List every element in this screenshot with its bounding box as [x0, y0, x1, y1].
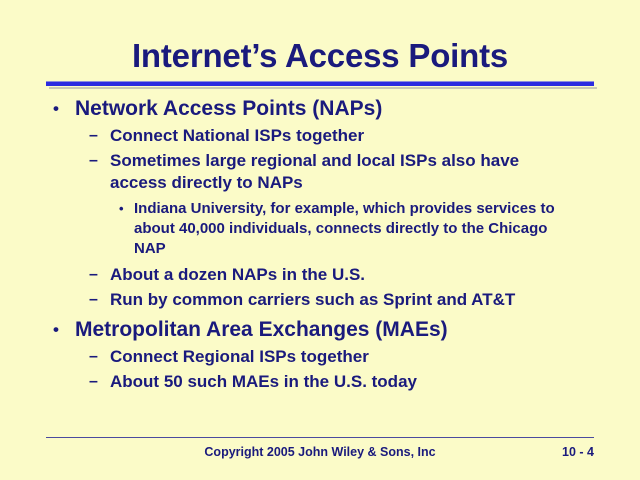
bullet-marker-level2: –	[89, 371, 98, 393]
page-title: Internet’s Access Points	[0, 38, 640, 74]
bullet-text: Sometimes large regional and local ISPs …	[110, 150, 570, 194]
bullet-text: Metropolitan Area Exchanges (MAEs)	[75, 317, 640, 343]
title-divider	[46, 81, 594, 86]
copyright-text: Copyright 2005 John Wiley & Sons, Inc	[46, 443, 594, 461]
bullet-text: About 50 such MAEs in the U.S. today	[110, 371, 640, 393]
bullet-text: Network Access Points (NAPs)	[75, 96, 640, 122]
bullet-level2: – Sometimes large regional and local ISP…	[0, 150, 640, 194]
bullet-text: Run by common carriers such as Sprint an…	[110, 289, 640, 311]
bullet-marker-level2: –	[89, 289, 98, 311]
bullet-level1: • Metropolitan Area Exchanges (MAEs)	[0, 317, 640, 343]
title-divider-shadow	[49, 87, 597, 89]
page-number: 10 - 4	[562, 443, 594, 461]
bullet-text: Connect Regional ISPs together	[110, 346, 640, 368]
slide-footer: Copyright 2005 John Wiley & Sons, Inc 10…	[46, 443, 594, 461]
bullet-marker-level3: •	[119, 199, 124, 219]
footer-divider	[46, 437, 594, 438]
slide-title-block: Internet’s Access Points	[0, 38, 640, 74]
bullet-marker-level2: –	[89, 346, 98, 368]
bullet-marker-level1: •	[53, 96, 59, 122]
bullet-level2: – Connect Regional ISPs together	[0, 346, 640, 368]
bullet-text: About a dozen NAPs in the U.S.	[110, 264, 640, 286]
bullet-text: Indiana University, for example, which p…	[134, 199, 570, 259]
bullet-marker-level2: –	[89, 150, 98, 172]
bullet-marker-level2: –	[89, 264, 98, 286]
slide-body: • Network Access Points (NAPs) – Connect…	[0, 96, 640, 394]
bullet-level2: – Run by common carriers such as Sprint …	[0, 289, 640, 311]
bullet-text: Connect National ISPs together	[110, 125, 640, 147]
bullet-level2: – About a dozen NAPs in the U.S.	[0, 264, 640, 286]
bullet-marker-level1: •	[53, 317, 59, 343]
bullet-level1: • Network Access Points (NAPs)	[0, 96, 640, 122]
bullet-marker-level2: –	[89, 125, 98, 147]
presentation-slide: Internet’s Access Points • Network Acces…	[0, 0, 640, 480]
bullet-level3: • Indiana University, for example, which…	[0, 199, 640, 259]
bullet-level2: – Connect National ISPs together	[0, 125, 640, 147]
bullet-level2: – About 50 such MAEs in the U.S. today	[0, 371, 640, 393]
